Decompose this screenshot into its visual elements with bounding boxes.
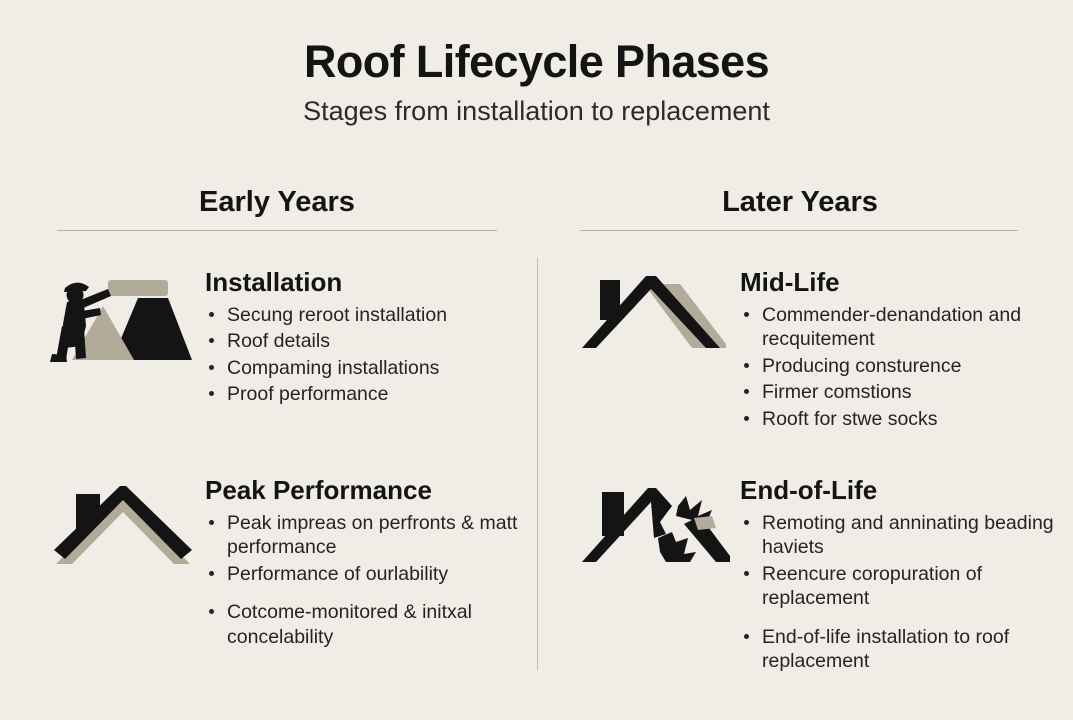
bullet-dot — [744, 416, 749, 421]
bullet-dot — [744, 312, 749, 317]
phase-body: Mid-Life Commender-denandation and recqu… — [740, 268, 1060, 433]
bullet-dot — [744, 634, 749, 639]
column-rule-left — [57, 230, 497, 231]
list-item-text: Cotcome-monitored & initxal concelabilit… — [227, 601, 472, 648]
phase-title: Peak Performance — [205, 476, 535, 505]
phase-body: Peak Performance Peak impreas on perfron… — [205, 476, 535, 651]
phase-title: Mid-Life — [740, 268, 1060, 297]
list-item-text: Peak impreas on perfronts & matt perform… — [227, 512, 517, 559]
list-item-text: Secung reroot installation — [227, 304, 447, 326]
page-subtitle: Stages from installation to replacement — [0, 97, 1073, 127]
list-item-text: Firmer comstions — [762, 381, 912, 403]
bullet-dot — [744, 571, 749, 576]
phase-title: Installation — [205, 268, 525, 297]
broken-cracked-roof-icon — [580, 476, 735, 571]
bullet-dot — [209, 312, 214, 317]
list-item: Cotcome-monitored & initxal concelabilit… — [205, 600, 535, 649]
list-item-text: Roof details — [227, 330, 330, 352]
list-item-text: Commender-denandation and recquitement — [762, 304, 1021, 351]
list-item: Producing consturence — [740, 354, 1060, 379]
list-item: Reencure coropuration of replacement — [740, 562, 1060, 611]
list-item: Roof details — [205, 329, 525, 354]
list-item: Remoting and anninating beading haviets — [740, 511, 1060, 560]
phase-bullet-list: Peak impreas on perfronts & matt perform… — [205, 511, 535, 650]
list-item: End-of-life installation to roof replace… — [740, 625, 1060, 674]
list-item: Performance of ourlability — [205, 562, 535, 587]
list-item: Secung reroot installation — [205, 303, 525, 328]
column-heading-later-years: Later Years — [580, 186, 1020, 219]
gable-roof-layered-icon — [50, 476, 195, 571]
list-item-text: Producing consturence — [762, 355, 961, 377]
list-item-text: Compaming installations — [227, 357, 439, 379]
bullet-dot — [209, 338, 214, 343]
bullet-dot — [209, 609, 214, 614]
list-item: Compaming installations — [205, 356, 525, 381]
column-heading-early-years: Early Years — [57, 186, 497, 219]
list-item: Proof performance — [205, 382, 525, 407]
bullet-dot — [209, 520, 214, 525]
list-item: Firmer comstions — [740, 380, 1060, 405]
list-item-text: Remoting and anninating beading haviets — [762, 512, 1054, 559]
bullet-dot — [209, 365, 214, 370]
bullet-dot — [209, 391, 214, 396]
list-item: Peak impreas on perfronts & matt perform… — [205, 511, 535, 560]
list-item-text: Reencure coropuration of replacement — [762, 563, 982, 610]
list-item-text: Proof performance — [227, 383, 389, 405]
page-title: Roof Lifecycle Phases — [0, 38, 1073, 87]
list-item: Rooft for stwe socks — [740, 407, 1060, 432]
infographic-canvas: Roof Lifecycle Phases Stages from instal… — [0, 0, 1073, 720]
column-rule-right — [580, 230, 1018, 231]
phase-bullet-list: Secung reroot installation Roof details … — [205, 303, 525, 407]
bullet-dot — [744, 363, 749, 368]
phase-body: Installation Secung reroot installation … — [205, 268, 525, 409]
phase-body: End-of-Life Remoting and anninating bead… — [740, 476, 1060, 676]
list-item: Commender-denandation and recquitement — [740, 303, 1060, 352]
phase-bullet-list: Remoting and anninating beading haviets … — [740, 511, 1060, 674]
list-item-text: Rooft for stwe socks — [762, 408, 938, 430]
header: Roof Lifecycle Phases Stages from instal… — [0, 38, 1073, 126]
list-item-text: End-of-life installation to roof replace… — [762, 626, 1009, 673]
bullet-dot — [209, 571, 214, 576]
column-divider — [537, 258, 538, 670]
phase-bullet-list: Commender-denandation and recquitement P… — [740, 303, 1060, 432]
bullet-dot — [744, 520, 749, 525]
list-item-text: Performance of ourlability — [227, 563, 448, 585]
phase-title: End-of-Life — [740, 476, 1060, 505]
bullet-dot — [744, 389, 749, 394]
roof-outline-with-chimney-icon — [580, 268, 730, 358]
roofer-installing-roof-icon — [50, 268, 195, 368]
